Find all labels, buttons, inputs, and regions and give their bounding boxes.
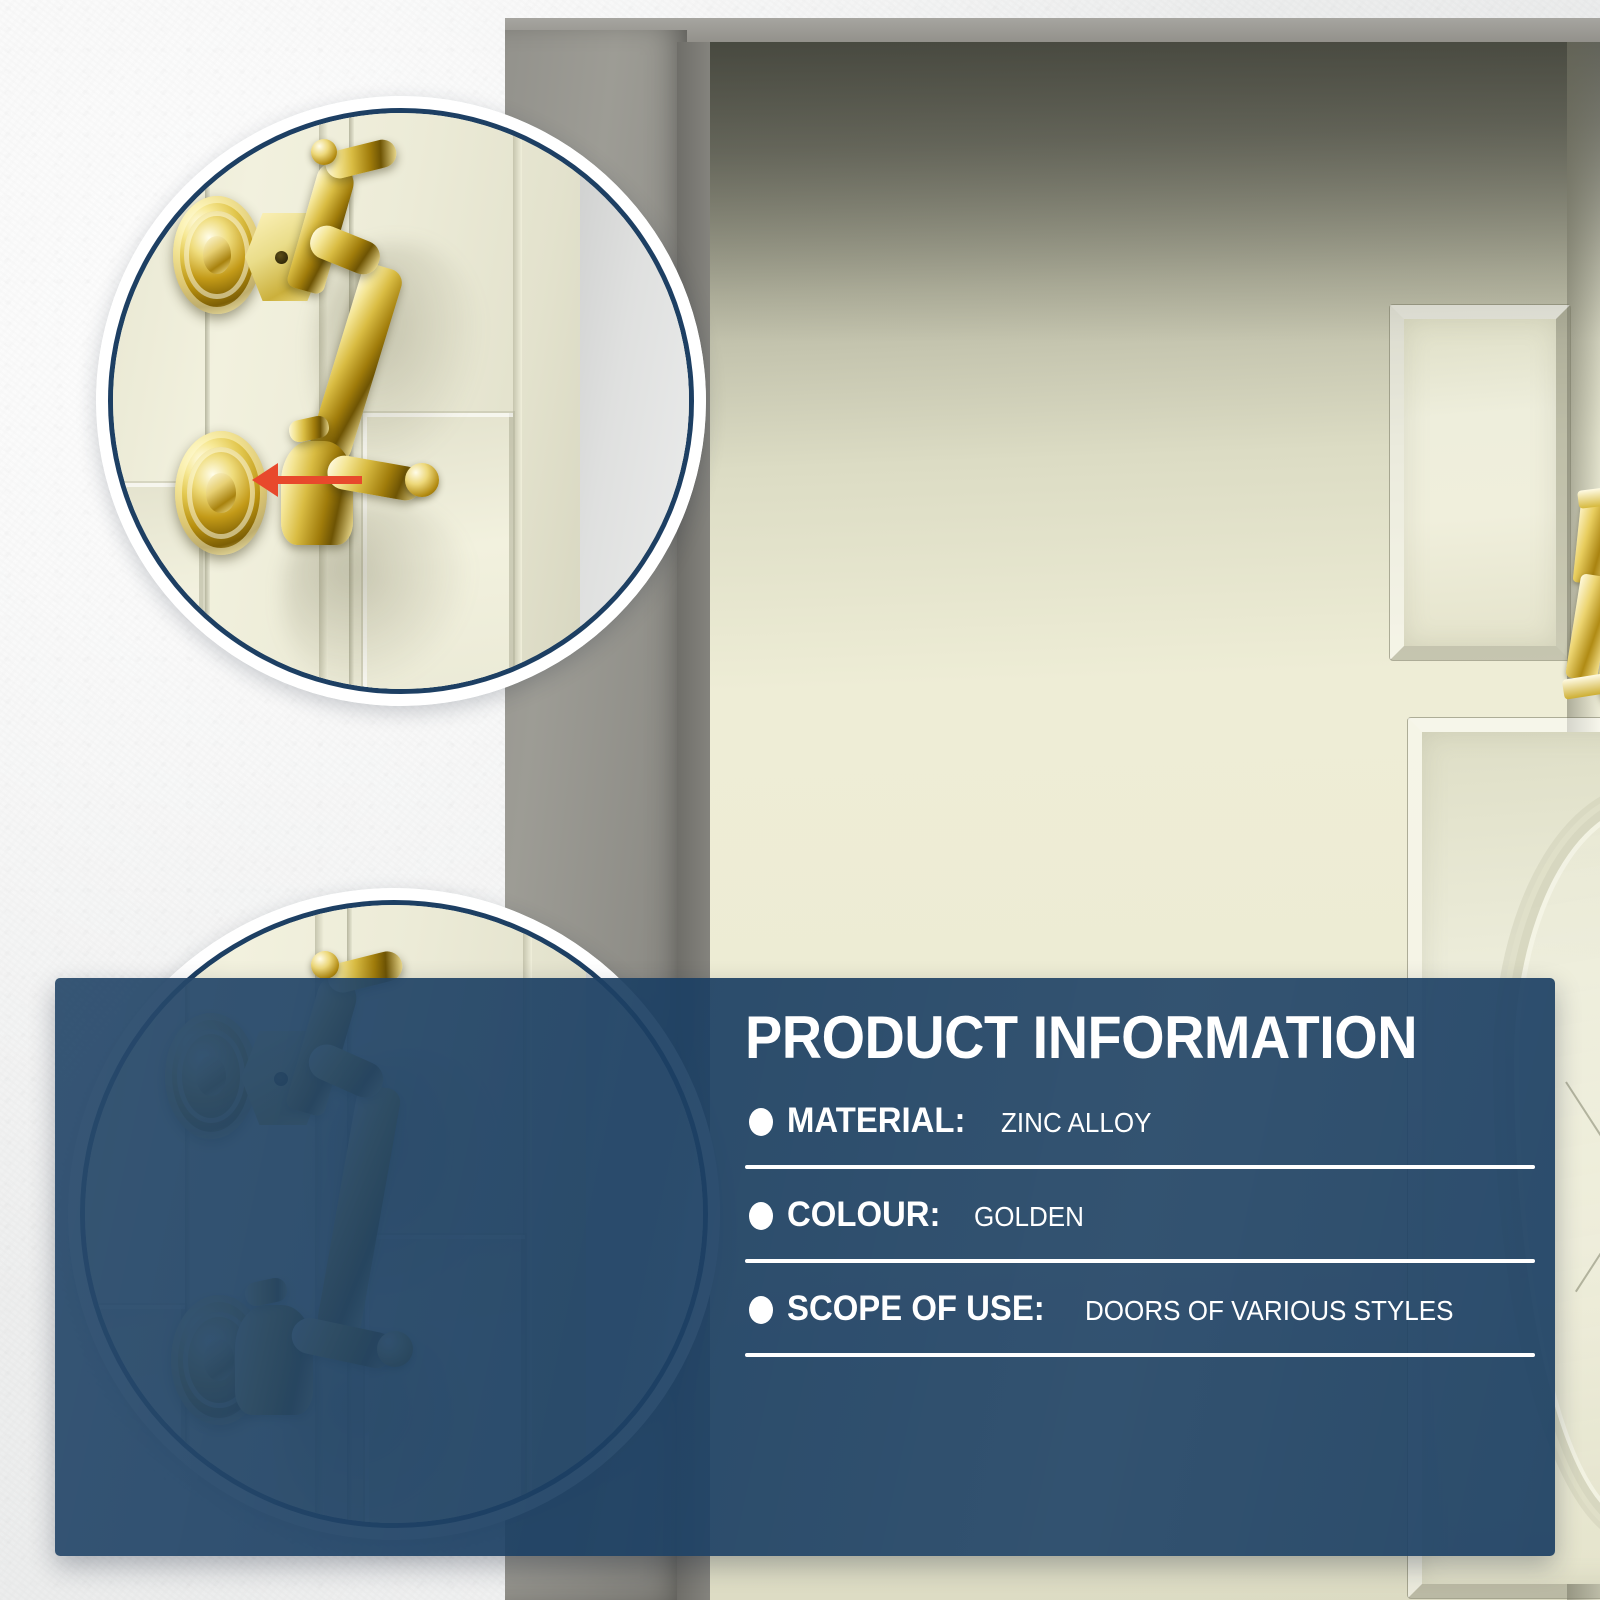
spec-label-material: MATERIAL:: [787, 1101, 965, 1141]
page-title: PRODUCT INFORMATION: [745, 1006, 1480, 1069]
door-panel-upper-left: [1390, 305, 1570, 660]
arrow-shaft: [278, 476, 362, 484]
rosette-hub: [206, 473, 235, 513]
knocker-top-stud: [311, 139, 337, 165]
callout-circle-assembly: [96, 96, 706, 706]
product-information-panel: PRODUCT INFORMATION MATERIAL: ZINC ALLOY…: [55, 978, 1555, 1556]
infographic-canvas: PRODUCT INFORMATION MATERIAL: ZINC ALLOY…: [0, 0, 1600, 1600]
spec-row-material: MATERIAL: ZINC ALLOY: [745, 1075, 1535, 1165]
bullet-icon: [749, 1202, 773, 1230]
knocker-screw-hole: [275, 251, 288, 264]
knocker-top-stud: [311, 951, 339, 979]
spec-row-scope: SCOPE OF USE: DOORS OF VARIOUS STYLES: [745, 1263, 1535, 1353]
rosette-hub: [203, 236, 231, 274]
callout-photo-assembly: [113, 113, 689, 689]
spec-label-colour: COLOUR:: [787, 1195, 941, 1235]
bullet-icon: [749, 1296, 773, 1324]
spec-value-scope: DOORS OF VARIOUS STYLES: [1085, 1295, 1453, 1327]
spec-label-scope: SCOPE OF USE:: [787, 1289, 1045, 1329]
product-information-content: PRODUCT INFORMATION MATERIAL: ZINC ALLOY…: [745, 1006, 1535, 1526]
spec-row-colour: COLOUR: GOLDEN: [745, 1169, 1535, 1259]
panel-bevel: [1390, 305, 1570, 660]
inner-door-scene: [113, 113, 689, 689]
spec-value-colour: GOLDEN: [974, 1201, 1084, 1233]
knocker-lower-stud: [405, 463, 439, 497]
inner-door-groove: [513, 113, 522, 689]
divider: [745, 1353, 1535, 1357]
assembly-direction-arrow: [252, 463, 362, 497]
inner-wall-strip: [580, 113, 689, 689]
spec-value-material: ZINC ALLOY: [1001, 1107, 1152, 1139]
bullet-icon: [749, 1108, 773, 1136]
door-top-shading: [710, 42, 1600, 342]
arrow-head: [252, 463, 278, 497]
